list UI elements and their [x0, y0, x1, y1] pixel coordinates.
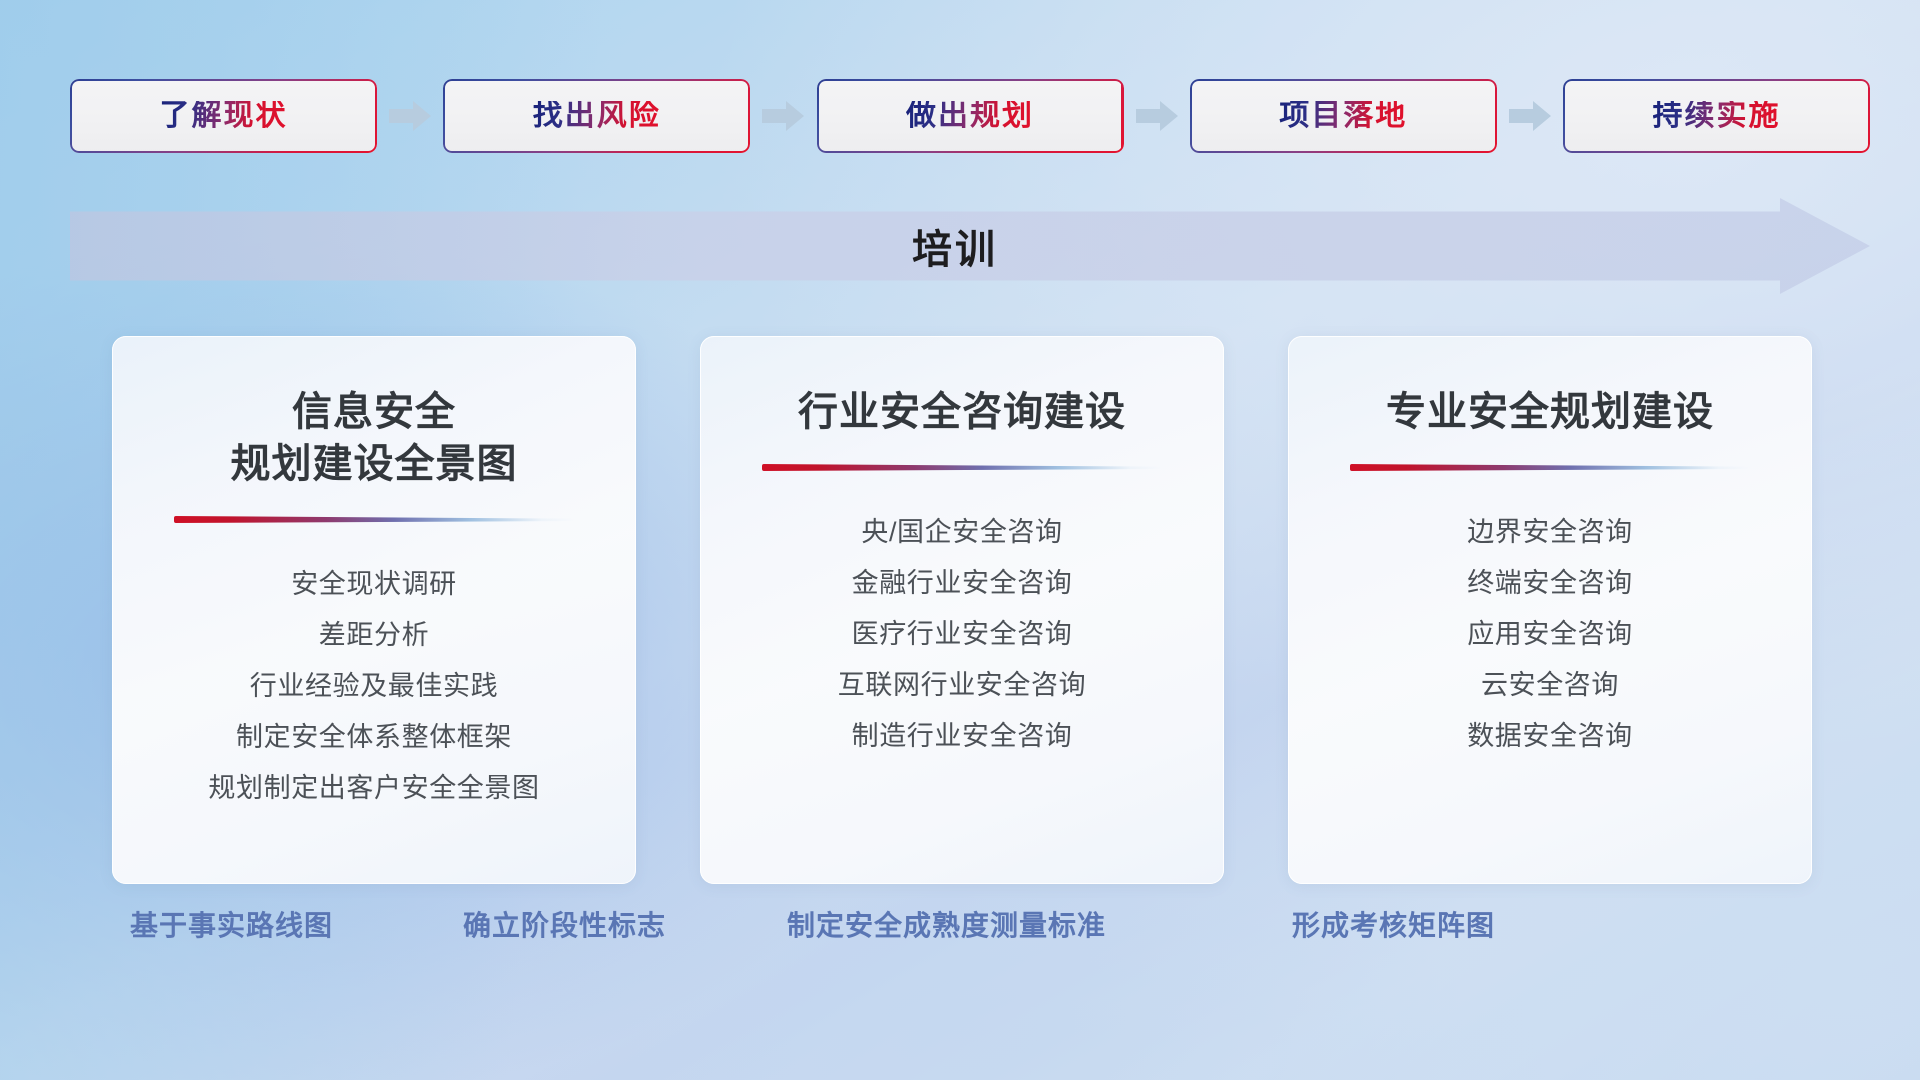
process-step-3[interactable]: 做出规划 — [817, 79, 1124, 153]
card-professional-security-planning[interactable]: 专业安全规划建设 边界安全咨询 终端安全咨询 应用安全咨询 云安全咨询 数据安全… — [1288, 336, 1812, 884]
list-item: 差距分析 — [112, 610, 636, 661]
card-title-line: 信息安全 — [231, 386, 518, 438]
list-item: 边界安全咨询 — [1288, 507, 1812, 558]
list-item: 行业经验及最佳实践 — [112, 661, 636, 712]
process-flow: 了解现状 找出风险 做出规划 项目落地 持续实施 — [70, 78, 1870, 154]
card-industry-security-consulting[interactable]: 行业安全咨询建设 央/国企安全咨询 金融行业安全咨询 医疗行业安全咨询 互联网行… — [700, 336, 1224, 884]
list-item: 安全现状调研 — [112, 559, 636, 610]
caption-row: 基于事实路线图 确立阶段性标志 制定安全成熟度测量标准 形成考核矩阵图 — [0, 912, 1920, 968]
card-divider — [174, 516, 574, 523]
process-step-label: 了解现状 — [160, 101, 288, 131]
card-item-list: 央/国企安全咨询 金融行业安全咨询 医疗行业安全咨询 互联网行业安全咨询 制造行… — [700, 507, 1224, 762]
list-item: 云安全咨询 — [1288, 660, 1812, 711]
caption-label: 确立阶段性标志 — [463, 912, 666, 940]
list-item: 医疗行业安全咨询 — [700, 609, 1224, 660]
list-item: 终端安全咨询 — [1288, 558, 1812, 609]
card-title: 专业安全规划建设 — [1386, 386, 1714, 438]
arrow-right-icon — [1509, 99, 1551, 133]
card-item-list: 安全现状调研 差距分析 行业经验及最佳实践 制定安全体系整体框架 规划制定出客户… — [112, 559, 636, 814]
card-information-security-blueprint[interactable]: 信息安全 规划建设全景图 安全现状调研 差距分析 行业经验及最佳实践 制定安全体… — [112, 336, 636, 884]
card-title-line: 规划建设全景图 — [231, 438, 518, 490]
card-divider — [1350, 464, 1750, 471]
list-item: 应用安全咨询 — [1288, 609, 1812, 660]
process-step-label: 做出规划 — [906, 101, 1034, 131]
process-step-label: 项目落地 — [1279, 101, 1407, 131]
list-item: 数据安全咨询 — [1288, 711, 1812, 762]
training-banner: 培训 — [70, 198, 1870, 294]
card-title: 行业安全咨询建设 — [798, 386, 1126, 438]
arrow-right-icon — [1136, 99, 1178, 133]
list-item: 制造行业安全咨询 — [700, 711, 1224, 762]
process-step-5[interactable]: 持续实施 — [1563, 79, 1870, 153]
caption-label: 形成考核矩阵图 — [1292, 912, 1495, 940]
list-item: 金融行业安全咨询 — [700, 558, 1224, 609]
list-item: 央/国企安全咨询 — [700, 507, 1224, 558]
list-item: 互联网行业安全咨询 — [700, 660, 1224, 711]
card-title-line: 行业安全咨询建设 — [798, 386, 1126, 438]
process-step-2[interactable]: 找出风险 — [443, 79, 750, 153]
card-divider — [762, 464, 1162, 471]
process-step-label: 找出风险 — [533, 101, 661, 131]
list-item: 制定安全体系整体框架 — [112, 712, 636, 763]
process-step-1[interactable]: 了解现状 — [70, 79, 377, 153]
caption-label: 基于事实路线图 — [130, 912, 333, 940]
card-title-line: 专业安全规划建设 — [1386, 386, 1714, 438]
arrow-right-icon — [389, 99, 431, 133]
caption-label: 制定安全成熟度测量标准 — [787, 912, 1106, 940]
list-item: 规划制定出客户安全全景图 — [112, 763, 636, 814]
process-step-label: 持续实施 — [1653, 101, 1781, 131]
banner-title: 培训 — [70, 198, 1870, 294]
process-step-4[interactable]: 项目落地 — [1190, 79, 1497, 153]
card-group: 信息安全 规划建设全景图 安全现状调研 差距分析 行业经验及最佳实践 制定安全体… — [112, 336, 1812, 884]
card-item-list: 边界安全咨询 终端安全咨询 应用安全咨询 云安全咨询 数据安全咨询 — [1288, 507, 1812, 762]
arrow-right-icon — [762, 99, 804, 133]
card-title: 信息安全 规划建设全景图 — [231, 386, 518, 490]
